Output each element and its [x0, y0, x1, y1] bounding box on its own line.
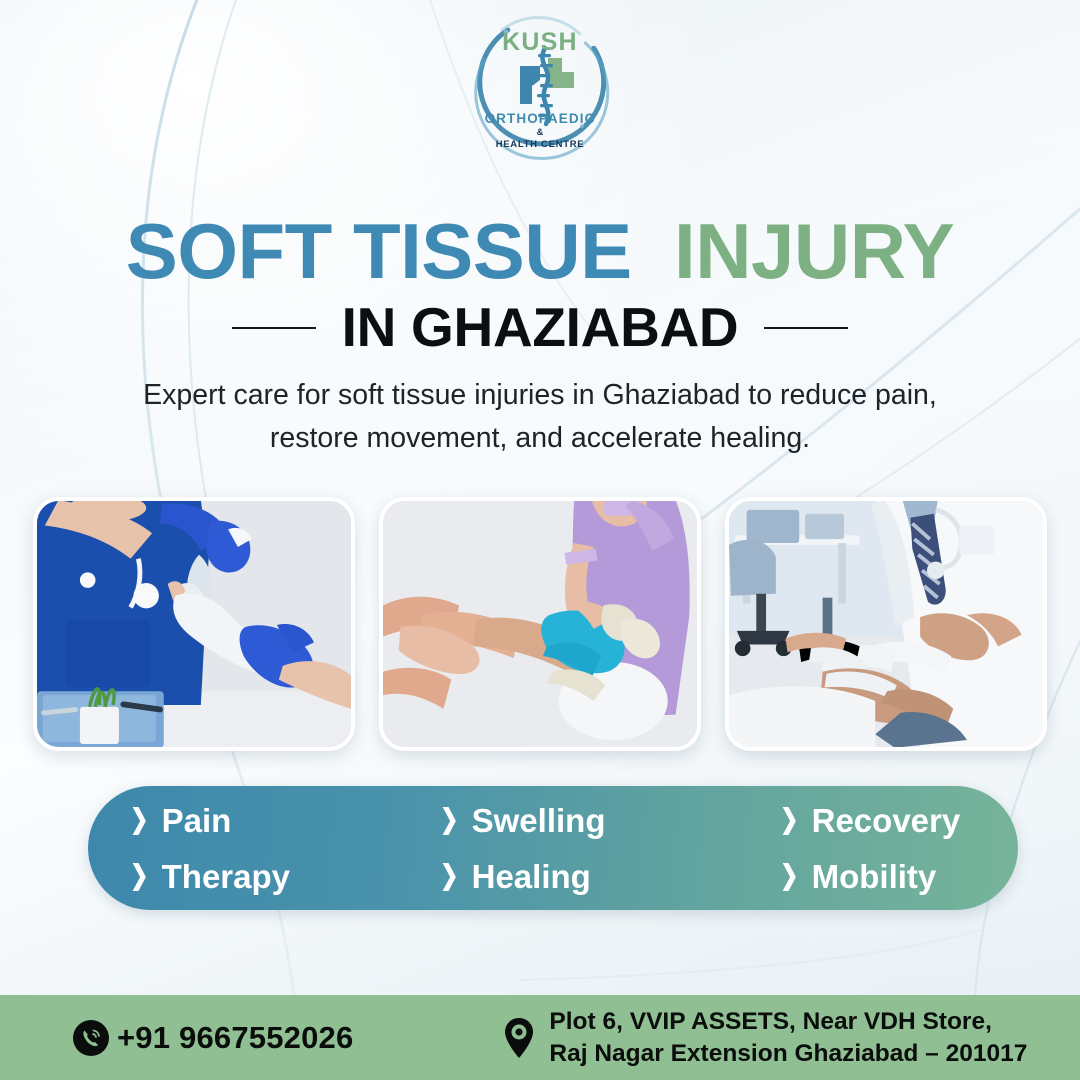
subtitle-row: IN GHAZIABAD: [0, 300, 1080, 355]
title-part-soft-tissue: SOFT TISSUE: [126, 207, 632, 295]
rule-right: [764, 327, 848, 329]
phone-number: +91 9667552026: [117, 1022, 353, 1053]
feature-item-mobility[interactable]: ❯ Mobility: [778, 860, 1058, 893]
photo-gallery: [33, 497, 1047, 751]
contact-footer: +91 9667552026 Plot 6, VVIP ASSETS, Near…: [0, 995, 1080, 1080]
doctor-bandaging-ankle-photo: [729, 501, 1043, 747]
address-line-2: Raj Nagar Extension Ghaziabad – 201017: [549, 1038, 1027, 1070]
photo-card-nurse-leg-cast: [379, 497, 701, 751]
logo-text-ortho: ORTHOPAEDIC: [462, 112, 618, 126]
map-pin-icon: [503, 1017, 535, 1059]
chevron-right-icon: ❯: [130, 806, 149, 833]
chevron-right-icon: ❯: [780, 806, 799, 833]
chevron-right-icon: ❯: [440, 862, 459, 889]
subtitle-location: IN GHAZIABAD: [342, 300, 739, 355]
feature-label: Therapy: [162, 860, 290, 893]
address-contact[interactable]: Plot 6, VVIP ASSETS, Near VDH Store, Raj…: [503, 1006, 1027, 1070]
feature-label: Mobility: [812, 860, 937, 893]
feature-label: Pain: [162, 804, 232, 837]
title-part-injury: INJURY: [674, 207, 954, 295]
page-title: SOFT TISSUE INJURY: [0, 212, 1080, 290]
photo-card-doctor-ankle: [725, 497, 1047, 751]
photo-card-nurse-bandaging-hand: [33, 497, 355, 751]
feature-item-healing[interactable]: ❯ Healing: [438, 860, 778, 893]
logo-text-amp: &: [462, 128, 618, 137]
feature-item-swelling[interactable]: ❯ Swelling: [438, 804, 778, 837]
feature-list: ❯ Pain ❯ Swelling ❯ Recovery ❯ Therapy ❯…: [88, 786, 1018, 910]
feature-item-pain[interactable]: ❯ Pain: [128, 804, 438, 837]
feature-item-therapy[interactable]: ❯ Therapy: [128, 860, 438, 893]
feature-label: Recovery: [812, 804, 961, 837]
nurse-with-cyan-leg-cast-photo: [383, 501, 697, 747]
brand-logo: KUSH ORTHOPAEDIC & HEALTH CENTRE: [0, 8, 1080, 168]
feature-label: Swelling: [472, 804, 606, 837]
chevron-right-icon: ❯: [130, 862, 149, 889]
rule-left: [232, 327, 316, 329]
feature-label: Healing: [472, 860, 591, 893]
nurse-bandaging-hand-photo: [37, 501, 351, 747]
chevron-right-icon: ❯: [780, 862, 799, 889]
phone-ring-icon: [72, 1019, 110, 1057]
tagline: Expert care for soft tissue injuries in …: [130, 374, 950, 461]
logo-text-health: HEALTH CENTRE: [462, 140, 618, 150]
logo-text-kush: KUSH: [462, 30, 618, 55]
feature-item-recovery[interactable]: ❯ Recovery: [778, 804, 1058, 837]
address-line-1: Plot 6, VVIP ASSETS, Near VDH Store,: [549, 1006, 1027, 1038]
phone-contact[interactable]: +91 9667552026: [72, 1019, 353, 1057]
chevron-right-icon: ❯: [440, 806, 459, 833]
poster-canvas: KUSH ORTHOPAEDIC & HEALTH CENTRE SOFT TI…: [0, 0, 1080, 1080]
